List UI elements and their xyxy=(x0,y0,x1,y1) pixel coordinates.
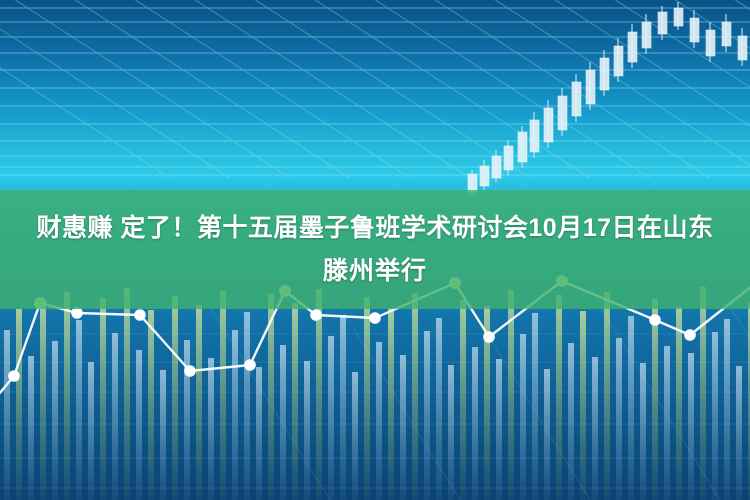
volume-bar xyxy=(244,312,250,500)
volume-bar xyxy=(256,367,262,500)
candle-body xyxy=(706,30,715,56)
volume-bar xyxy=(352,372,358,500)
volume-bar xyxy=(124,288,130,500)
candle-body xyxy=(518,132,527,162)
candle-body xyxy=(690,18,699,42)
volume-bar xyxy=(532,313,538,500)
volume-bar xyxy=(604,292,610,500)
candle-body xyxy=(614,46,623,76)
volume-bar xyxy=(652,299,658,500)
candle-body xyxy=(572,82,581,116)
volume-bar xyxy=(472,347,478,500)
headline-line-1: 财惠赚 定了！第十五届墨子鲁班学术研讨会10月17日在山东 xyxy=(36,207,713,250)
volume-bar xyxy=(64,292,70,500)
volume-bar xyxy=(220,291,226,500)
volume-bar xyxy=(676,307,682,500)
volume-bar xyxy=(328,336,334,500)
volume-bar xyxy=(424,331,430,500)
volume-bar xyxy=(388,308,394,500)
volume-bar xyxy=(400,355,406,500)
volume-bar xyxy=(40,300,46,500)
volume-bar xyxy=(616,338,622,500)
volume-bar xyxy=(520,334,526,500)
trend-line-marker xyxy=(370,313,380,323)
candle-body xyxy=(492,156,501,178)
candle-body xyxy=(738,36,747,60)
candle-body xyxy=(642,22,651,48)
volume-bar xyxy=(292,303,298,500)
volume-bar xyxy=(88,362,94,500)
volume-bar xyxy=(544,369,550,500)
volume-bar xyxy=(340,315,346,500)
headline-line-2: 滕州举行 xyxy=(323,250,427,293)
volume-bar xyxy=(412,293,418,500)
volume-bar xyxy=(280,345,286,500)
volume-bar xyxy=(76,320,82,500)
volume-bar xyxy=(28,356,34,500)
candle-body xyxy=(586,70,595,104)
volume-bar xyxy=(700,287,706,500)
volume-bar xyxy=(376,342,382,500)
volume-bar xyxy=(4,330,10,500)
trend-line-marker xyxy=(9,371,19,381)
trend-line-marker xyxy=(185,366,195,376)
trend-line-marker xyxy=(484,332,494,342)
volume-bar xyxy=(172,296,178,500)
volume-bar xyxy=(436,318,442,500)
candle-body xyxy=(480,166,489,186)
volume-bar xyxy=(556,295,562,500)
volume-bar xyxy=(232,330,238,500)
volume-bar xyxy=(640,363,646,500)
volume-bar xyxy=(580,311,586,500)
volume-bar xyxy=(724,319,730,500)
candle-body xyxy=(722,22,731,46)
candle-body xyxy=(558,96,567,130)
candle-body xyxy=(544,108,553,142)
trend-line-marker xyxy=(135,310,145,320)
volume-bar xyxy=(304,361,310,500)
trend-line-marker xyxy=(650,315,660,325)
trend-line-marker xyxy=(72,308,82,318)
volume-bar xyxy=(496,359,502,500)
volume-bar xyxy=(664,346,670,500)
volume-bar xyxy=(460,300,466,500)
trend-line-marker xyxy=(311,310,321,320)
candle-body xyxy=(674,8,683,26)
volume-bar xyxy=(160,370,166,500)
volume-bar xyxy=(688,353,694,500)
financial-banner-image: 财惠赚 定了！第十五届墨子鲁班学术研讨会10月17日在山东 滕州举行 xyxy=(0,0,750,500)
volume-bar xyxy=(16,309,22,500)
volume-bar xyxy=(736,366,742,500)
volume-bar xyxy=(568,343,574,500)
candle-body xyxy=(600,58,609,90)
volume-bar xyxy=(208,358,214,500)
trend-line-marker xyxy=(245,360,255,370)
trend-line-marker xyxy=(685,330,695,340)
volume-bar xyxy=(592,357,598,500)
volume-bar xyxy=(448,365,454,500)
candle-body xyxy=(530,120,539,152)
candle-body xyxy=(504,146,513,170)
volume-bar xyxy=(628,316,634,500)
headline-overlay-band: 财惠赚 定了！第十五届墨子鲁班学术研讨会10月17日在山东 滕州举行 xyxy=(0,190,750,309)
volume-bar xyxy=(136,350,142,500)
volume-bar xyxy=(712,332,718,500)
volume-bar xyxy=(52,341,58,500)
volume-bar xyxy=(196,305,202,500)
sky-gradient xyxy=(0,0,750,178)
volume-bar xyxy=(100,298,106,500)
volume-bar xyxy=(112,333,118,500)
volume-bar xyxy=(148,310,154,500)
candle-body xyxy=(628,32,637,62)
volume-bar xyxy=(364,297,370,500)
candle-body xyxy=(658,12,667,34)
